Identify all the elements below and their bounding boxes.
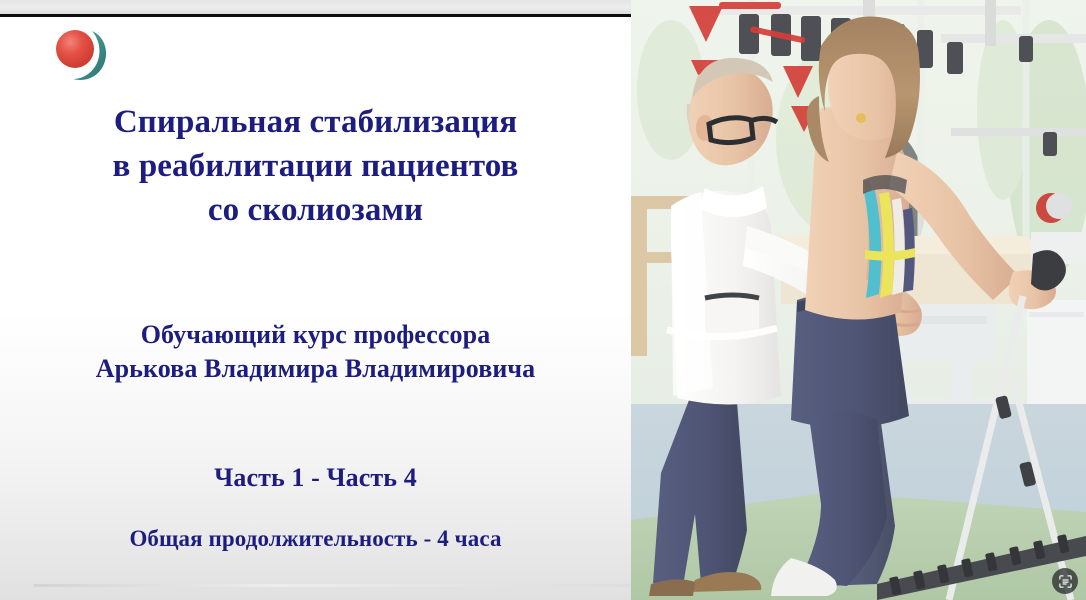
title-line-1: Спиральная стабилизация [0, 100, 631, 144]
course-subtitle: Обучающий курс профессора Арькова Владим… [0, 318, 631, 386]
course-parts-label: Часть 1 - Часть 4 [0, 462, 631, 494]
title-line-3: со сколиозами [0, 188, 631, 232]
slide-bottom-divider [34, 584, 631, 587]
course-duration-label: Общая продолжительность - 4 часа [0, 524, 631, 554]
lens-scan-icon [1058, 574, 1073, 589]
subtitle-line-1: Обучающий курс профессора [0, 318, 631, 352]
presentation-slide: Спиральная стабилизация в реабилитации п… [0, 0, 631, 600]
slide-top-sheen [0, 0, 631, 14]
company-logo [46, 24, 116, 86]
company-logo-sphere-crescent-icon [46, 24, 116, 86]
page-title: Спиральная стабилизация в реабилитации п… [0, 100, 631, 232]
title-line-2: в реабилитации пациентов [0, 144, 631, 188]
clinic-photo [631, 0, 1086, 600]
slide-top-divider [0, 14, 631, 17]
clinic-photo-icon [631, 0, 1086, 600]
lens-scan-badge[interactable] [1052, 568, 1078, 594]
screenshot-root: Спиральная стабилизация в реабилитации п… [0, 0, 1086, 600]
subtitle-line-2: Арькова Владимира Владимировича [0, 352, 631, 386]
